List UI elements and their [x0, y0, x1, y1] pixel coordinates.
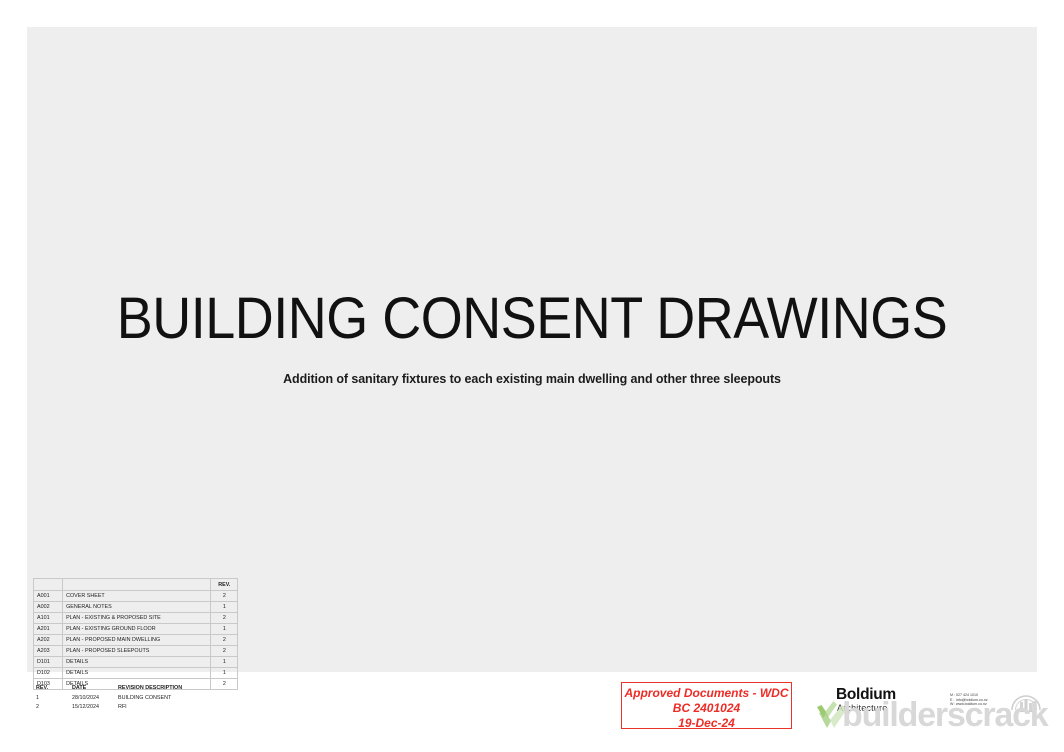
revision-cell-rev: 1: [36, 694, 72, 704]
drawing-list-row: A201PLAN - EXISTING GROUND FLOOR1: [34, 624, 238, 635]
drawing-list-header-row: REV.: [34, 579, 238, 591]
logo-name: Boldium: [836, 686, 896, 704]
drawing-list-cell-rev: 1: [210, 624, 237, 635]
drawing-list-row: A101PLAN - EXISTING & PROPOSED SITE2: [34, 613, 238, 624]
revision-cell-description: RFI: [118, 703, 228, 713]
company-logo: Boldium Architecture: [816, 686, 926, 726]
page-subtitle: Addition of sanitary fixtures to each ex…: [27, 372, 1037, 386]
drawing-list-cell-rev: 1: [210, 668, 237, 679]
contact-email-value: info@boldium.co.nz: [956, 698, 988, 702]
revision-cell-date: 15/12/2024: [72, 703, 118, 713]
revision-cell-date: 28/10/2024: [72, 694, 118, 704]
drawing-list-cell-code: A202: [34, 635, 63, 646]
drawing-list-cell-description: PLAN - PROPOSED MAIN DWELLING: [63, 635, 211, 646]
revision-table: REV. DATE REVISION DESCRIPTION 128/10/20…: [36, 684, 228, 713]
drawing-list-cell-code: D101: [34, 657, 63, 668]
page-title: BUILDING CONSENT DRAWINGS: [62, 288, 1001, 350]
drawing-list-cell-rev: 2: [210, 591, 237, 602]
drawing-list-cell-rev: 2: [210, 613, 237, 624]
seal-icon: [1008, 688, 1044, 724]
title-block: BUILDING CONSENT DRAWINGS Addition of sa…: [27, 288, 1037, 386]
drawing-list-row: A203PLAN - PROPOSED SLEEPOUTS2: [34, 646, 238, 657]
drawing-list-row: A002GENERAL NOTES1: [34, 602, 238, 613]
drawing-list-cell-description: DETAILS: [63, 657, 211, 668]
drawing-sheet: BUILDING CONSENT DRAWINGS Addition of sa…: [0, 0, 1064, 752]
contact-mobile-value: 027 424 1010: [956, 693, 978, 697]
drawing-list-cell-rev: 1: [210, 602, 237, 613]
drawing-list-cell-description: COVER SHEET: [63, 591, 211, 602]
revision-cell-rev: 2: [36, 703, 72, 713]
contact-web-value: www.boldium.co.nz: [956, 702, 987, 706]
drawing-list-cell-rev: 2: [210, 635, 237, 646]
checkmark-icon: [816, 700, 838, 720]
revision-header-description: REVISION DESCRIPTION: [118, 684, 228, 694]
revision-row: 128/10/2024BUILDING CONSENT: [36, 694, 228, 704]
drawing-list-cell-description: PLAN - PROPOSED SLEEPOUTS: [63, 646, 211, 657]
drawing-list-cell-rev: 2: [210, 646, 237, 657]
drawing-list-row: D101DETAILS1: [34, 657, 238, 668]
revision-row: 215/12/2024RFI: [36, 703, 228, 713]
drawing-list-row: A202PLAN - PROPOSED MAIN DWELLING2: [34, 635, 238, 646]
drawing-list-cell-code: A002: [34, 602, 63, 613]
drawing-list-table: REV. A001COVER SHEET2A002GENERAL NOTES1A…: [33, 578, 238, 690]
drawing-list-header-rev: REV.: [210, 579, 237, 591]
revision-cell-description: BUILDING CONSENT: [118, 694, 228, 704]
drawing-list-row: D102DETAILS1: [34, 668, 238, 679]
drawing-list-cell-code: A101: [34, 613, 63, 624]
approval-stamp: Approved Documents - WDC BC 2401024 19-D…: [621, 682, 792, 729]
drawing-list-cell-rev: 1: [210, 657, 237, 668]
approval-stamp-line1: Approved Documents - WDC: [622, 686, 791, 701]
drawing-list-row: A001COVER SHEET2: [34, 591, 238, 602]
revision-header-date: DATE: [72, 684, 118, 694]
revision-header-rev: REV.: [36, 684, 72, 694]
drawing-list-cell-code: A201: [34, 624, 63, 635]
logo-subtitle: Architecture: [837, 703, 887, 713]
drawing-list-cell-code: A001: [34, 591, 63, 602]
approval-stamp-line2: BC 2401024: [622, 701, 791, 716]
drawing-list-cell-description: PLAN - EXISTING GROUND FLOOR: [63, 624, 211, 635]
contact-web: W :www.boldium.co.nz: [950, 702, 988, 707]
drawing-list-cell-code: A203: [34, 646, 63, 657]
approval-stamp-line3: 19-Dec-24: [622, 716, 791, 731]
drawing-list-header-code: [34, 579, 63, 591]
drawing-list-header-description: [63, 579, 211, 591]
revision-header-row: REV. DATE REVISION DESCRIPTION: [36, 684, 228, 694]
drawing-list-cell-code: D102: [34, 668, 63, 679]
drawing-list-cell-description: DETAILS: [63, 668, 211, 679]
drawing-list-cell-description: GENERAL NOTES: [63, 602, 211, 613]
contact-block: M :027 424 1010 E :info@boldium.co.nz W …: [950, 693, 988, 707]
drawing-list-cell-description: PLAN - EXISTING & PROPOSED SITE: [63, 613, 211, 624]
